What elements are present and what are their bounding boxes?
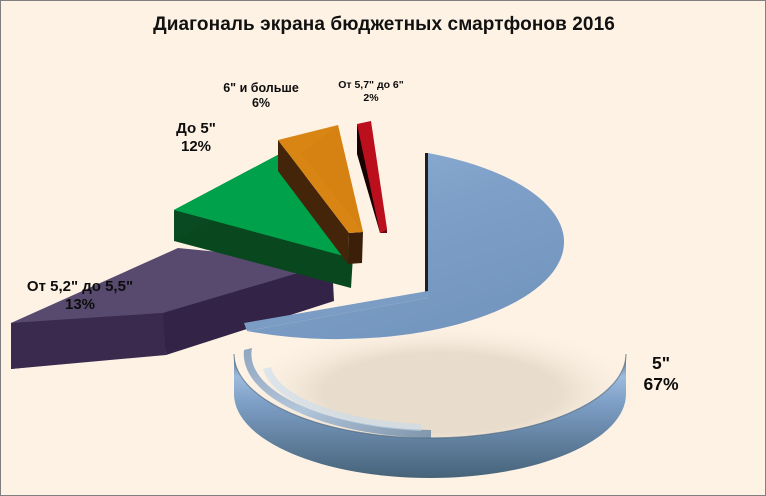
pie-label-do-5-percent: 12% — [136, 138, 256, 156]
pie-label-52-to-55-percent: 13% — [0, 296, 161, 314]
pie-label-57-to-6: От 5,7" до 6" 2% — [312, 79, 430, 105]
pie-label-5-name: 5" — [601, 353, 721, 374]
pie-label-6-and-more: 6" и больше 6% — [197, 81, 325, 112]
pie-label-5-percent: 67% — [601, 374, 721, 395]
chart-canvas: Диагональ экрана бюджетных смартфонов 20… — [0, 0, 766, 496]
pie-label-6-and-more-name: 6" и больше — [197, 81, 325, 96]
pie-label-5: 5" 67% — [601, 353, 721, 396]
pie-chart-graphic — [1, 1, 766, 496]
pie-label-52-to-55: От 5,2" до 5,5" 13% — [0, 278, 161, 315]
pie-label-6-and-more-percent: 6% — [197, 96, 325, 111]
pie-label-52-to-55-name: От 5,2" до 5,5" — [0, 278, 161, 296]
pie-label-57-to-6-percent: 2% — [312, 92, 430, 105]
pie-label-do-5: До 5" 12% — [136, 120, 256, 157]
pie-slice-red[interactable] — [357, 121, 387, 233]
pie-label-57-to-6-name: От 5,7" до 6" — [312, 79, 430, 92]
pie-label-do-5-name: До 5" — [136, 120, 256, 138]
